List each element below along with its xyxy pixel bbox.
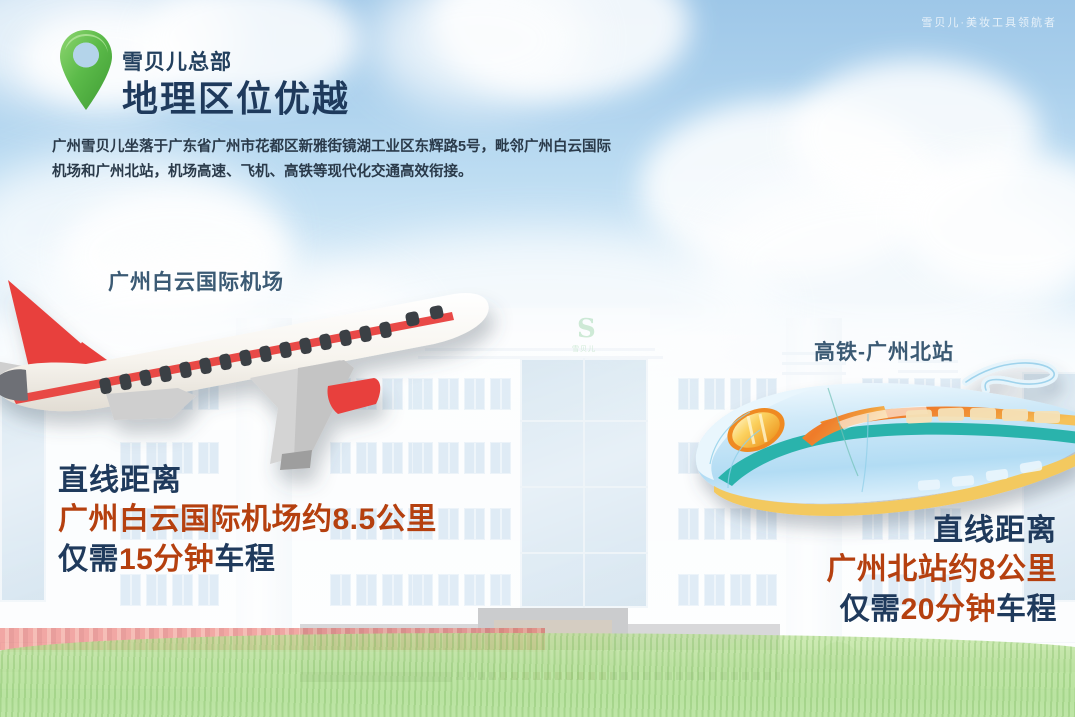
distance-block-railway: 直线距离 广州北站约8公里 仅需20分钟车程 xyxy=(826,512,1057,630)
label-airport: 广州白云国际机场 xyxy=(108,266,284,296)
header-description: 广州雪贝儿坐落于广东省广州市花都区新雅街镜湖工业区东辉路5号，毗邻广州白云国际机… xyxy=(52,135,612,185)
building-logo-text: 雪贝儿 xyxy=(572,344,596,354)
railway-time-suffix: 车程 xyxy=(996,593,1057,626)
railway-travel-time: 仅需20分钟车程 xyxy=(826,590,1057,630)
airport-travel-time: 仅需15分钟车程 xyxy=(58,540,437,580)
railway-time-value: 20分钟 xyxy=(901,593,996,626)
grass-lawn xyxy=(0,621,1075,717)
airport-time-value: 15分钟 xyxy=(119,543,214,576)
airport-distance-value: 广州白云国际机场约8.5公里 xyxy=(58,500,437,540)
page-title: 地理区位优越 xyxy=(122,70,350,122)
railway-distance-value: 广州北站约8公里 xyxy=(826,550,1057,590)
airport-distance-heading: 直线距离 xyxy=(58,462,437,500)
building-logo-mark: S xyxy=(577,316,596,342)
airplane-icon xyxy=(0,268,502,493)
railway-time-prefix: 仅需 xyxy=(840,593,901,626)
airport-time-suffix: 车程 xyxy=(214,543,275,576)
airport-time-prefix: 仅需 xyxy=(58,543,119,576)
poster-canvas: S 雪贝儿 xyxy=(0,0,1075,717)
high-speed-train-icon xyxy=(670,352,1075,537)
label-railway: 高铁-广州北站 xyxy=(814,336,954,366)
railway-distance-heading: 直线距离 xyxy=(826,512,1057,550)
distance-block-airport: 直线距离 广州白云国际机场约8.5公里 仅需15分钟车程 xyxy=(58,462,437,580)
map-pin-icon xyxy=(58,28,114,112)
watermark: 雪贝儿·美妆工具领航者 xyxy=(921,14,1057,30)
